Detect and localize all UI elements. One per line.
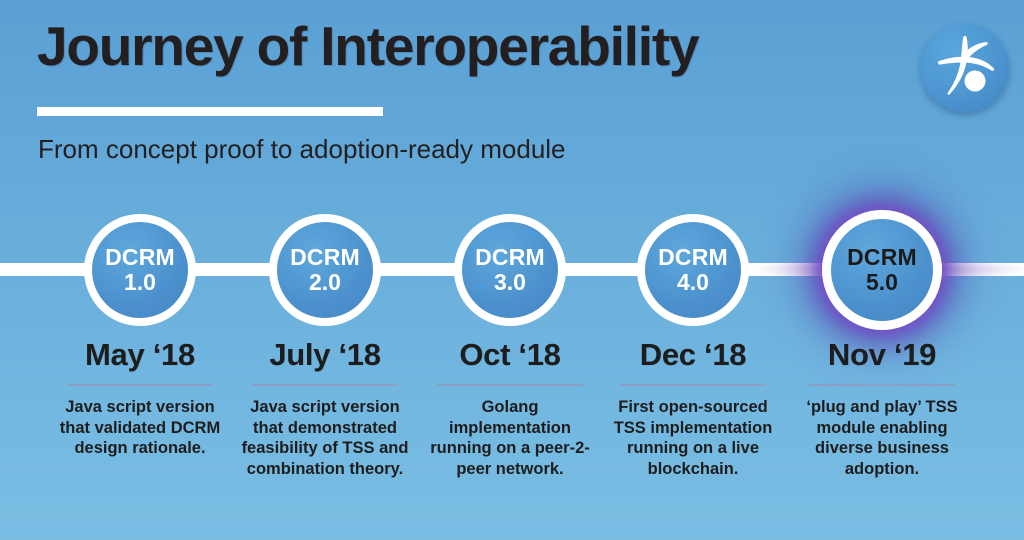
timeline-column-1: May ‘18 Java script version that validat… [47, 336, 233, 459]
milestone-date: Nov ‘19 [789, 336, 975, 374]
milestone-date: July ‘18 [232, 336, 418, 374]
node-version-label: 1.0 [124, 270, 156, 295]
node-name-label: DCRM [105, 245, 175, 270]
header: Journey of Interoperability From concept… [37, 14, 897, 78]
title-underline-rule [37, 107, 383, 116]
timeline-node-5[interactable]: DCRM 5.0 [822, 210, 942, 330]
company-logo [921, 24, 1009, 112]
timeline-column-3: Oct ‘18 Golang implementation running on… [417, 336, 603, 479]
timeline-node-4[interactable]: DCRM 4.0 [637, 214, 749, 326]
node-circle: DCRM 1.0 [84, 214, 196, 326]
column-divider [252, 384, 398, 386]
node-circle: DCRM 3.0 [454, 214, 566, 326]
column-divider [809, 384, 955, 386]
page-subtitle: From concept proof to adoption-ready mod… [38, 132, 566, 166]
milestone-date: Oct ‘18 [417, 336, 603, 374]
node-version-label: 3.0 [494, 270, 526, 295]
column-divider [67, 384, 213, 386]
node-name-label: DCRM [658, 245, 728, 270]
node-name-label: DCRM [475, 245, 545, 270]
milestone-description: Java script version that validated DCRM … [47, 397, 233, 459]
timeline-node-1[interactable]: DCRM 1.0 [84, 214, 196, 326]
timeline-node-2[interactable]: DCRM 2.0 [269, 214, 381, 326]
timeline-column-4: Dec ‘18 First open-sourced TSS implement… [600, 336, 786, 479]
node-circle: DCRM 4.0 [637, 214, 749, 326]
timeline-column-5: Nov ‘19 ‘plug and play’ TSS module enabl… [789, 336, 975, 479]
node-name-label: DCRM [847, 245, 917, 270]
milestone-date: May ‘18 [47, 336, 233, 374]
milestone-description: ‘plug and play’ TSS module enabling dive… [789, 397, 975, 479]
node-version-label: 5.0 [866, 270, 898, 295]
milestone-description: Java script version that demonstrated fe… [232, 397, 418, 479]
milestone-date: Dec ‘18 [600, 336, 786, 374]
timeline-node-3[interactable]: DCRM 3.0 [454, 214, 566, 326]
node-circle: DCRM 2.0 [269, 214, 381, 326]
node-version-label: 2.0 [309, 270, 341, 295]
infographic-canvas: Journey of Interoperability From concept… [0, 0, 1024, 540]
node-circle-highlighted: DCRM 5.0 [822, 210, 942, 330]
milestone-description: Golang implementation running on a peer-… [417, 397, 603, 479]
node-name-label: DCRM [290, 245, 360, 270]
page-title: Journey of Interoperability [37, 14, 897, 78]
timeline-column-2: July ‘18 Java script version that demons… [232, 336, 418, 479]
column-divider [620, 384, 766, 386]
milestone-description: First open-sourced TSS implementation ru… [600, 397, 786, 479]
swoosh-star-dot-icon [921, 24, 1009, 112]
column-divider [437, 384, 583, 386]
node-version-label: 4.0 [677, 270, 709, 295]
